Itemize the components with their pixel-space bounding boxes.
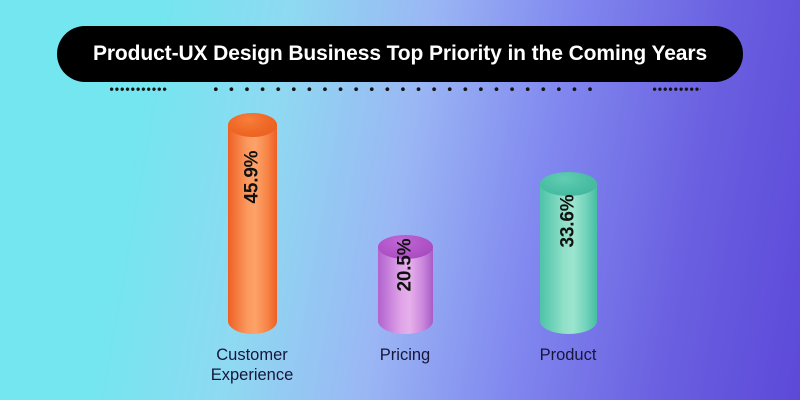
category-line-2: Experience: [188, 365, 317, 385]
category-line-1: Product: [500, 345, 637, 365]
bar-cylinder-product[interactable]: 33.6%: [540, 172, 597, 334]
bar-cylinder-pricing[interactable]: 20.5%: [378, 235, 433, 334]
bar-cylinder-customer-experience[interactable]: 45.9%: [228, 113, 277, 334]
bar-category-label-pricing: Pricing: [338, 345, 473, 365]
category-line-1: Customer: [188, 345, 317, 365]
bar-category-label-product: Product: [500, 345, 637, 365]
bar-top-ellipse: [540, 172, 597, 196]
page-title: Product-UX Design Business Top Priority …: [93, 42, 707, 66]
category-line-1: Pricing: [338, 345, 473, 365]
infographic-canvas: Product-UX Design Business Top Priority …: [0, 0, 800, 400]
page-title-pill: Product-UX Design Business Top Priority …: [57, 26, 743, 82]
bar-top-ellipse: [228, 113, 277, 137]
bar-category-label-customer-experience: Customer Experience: [188, 345, 317, 385]
